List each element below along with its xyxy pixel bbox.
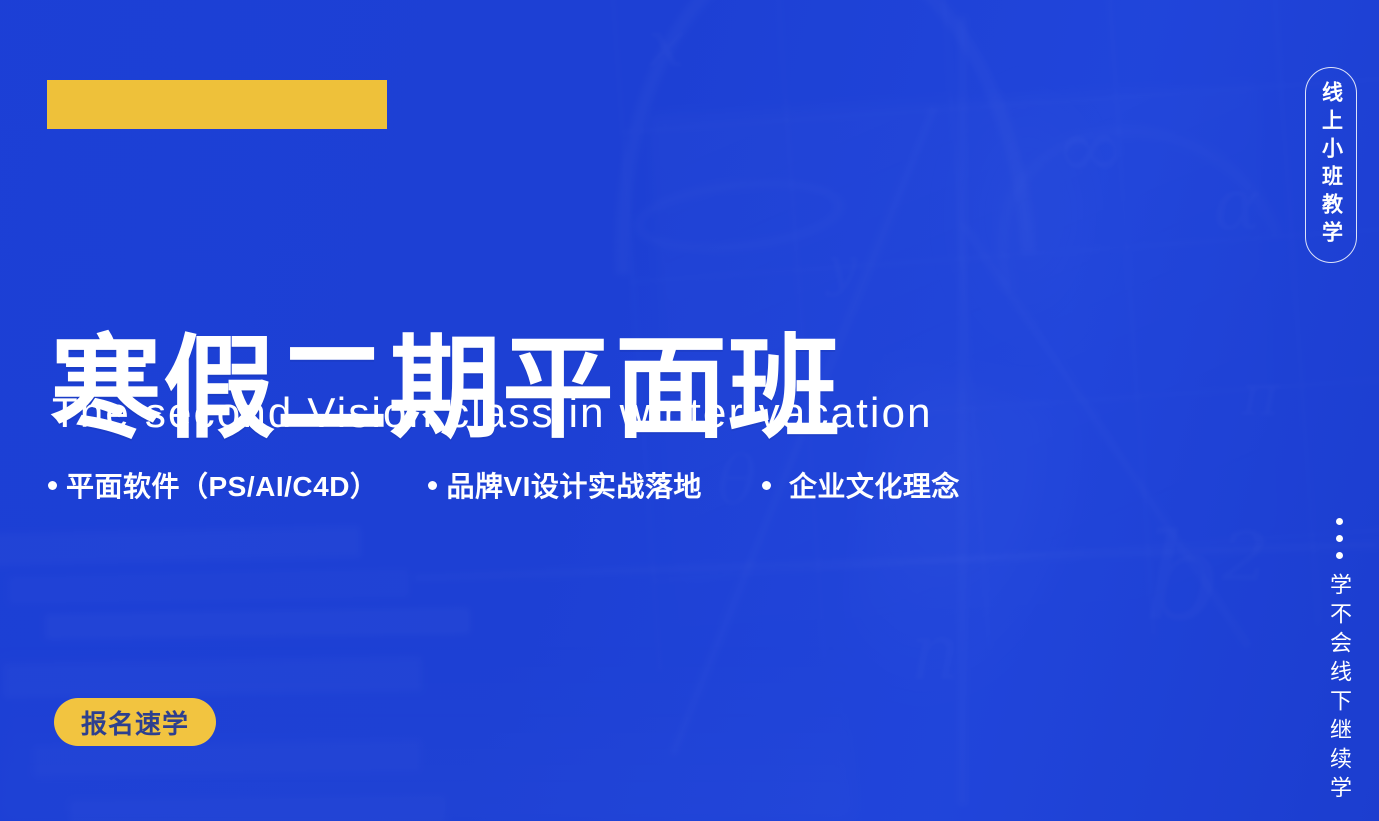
page-subtitle: The second Vision class in winter vacati…: [52, 392, 933, 434]
dot-icon: [1336, 535, 1343, 542]
vertical-slogan: 学不会线下继续学: [1328, 518, 1350, 805]
dot-icon: [1336, 552, 1343, 559]
feature-label: 企业文化理念: [789, 465, 960, 505]
enroll-button-label: 报名速学: [81, 704, 189, 741]
bullet-dot-icon: [762, 481, 771, 490]
accent-bar: [47, 80, 387, 129]
enroll-button[interactable]: 报名速学: [54, 698, 216, 746]
promo-poster: ∞ α b² x y π θ n 寒假二期平面班 The second Visi…: [0, 0, 1379, 821]
feature-label: 平面软件（PS/AI/C4D）: [66, 465, 378, 505]
dot-group-icon: [1336, 518, 1343, 559]
bullet-dot-icon: [428, 481, 437, 490]
feature-label: 品牌VI设计实战落地: [446, 465, 701, 505]
slogan-label: 学不会线下继续学: [1328, 573, 1350, 805]
dot-icon: [1336, 518, 1343, 525]
list-item: 企业文化理念: [762, 465, 960, 505]
badge-label: 线上小班教学: [1321, 81, 1342, 249]
poster-content: 寒假二期平面班 The second Vision class in winte…: [0, 0, 1379, 821]
status-badge: 线上小班教学: [1305, 67, 1357, 263]
list-item: 平面软件（PS/AI/C4D）: [48, 465, 378, 505]
bullet-dot-icon: [48, 481, 57, 490]
feature-list: 平面软件（PS/AI/C4D） 品牌VI设计实战落地 企业文化理念: [48, 465, 960, 505]
list-item: 品牌VI设计实战落地: [428, 465, 701, 505]
